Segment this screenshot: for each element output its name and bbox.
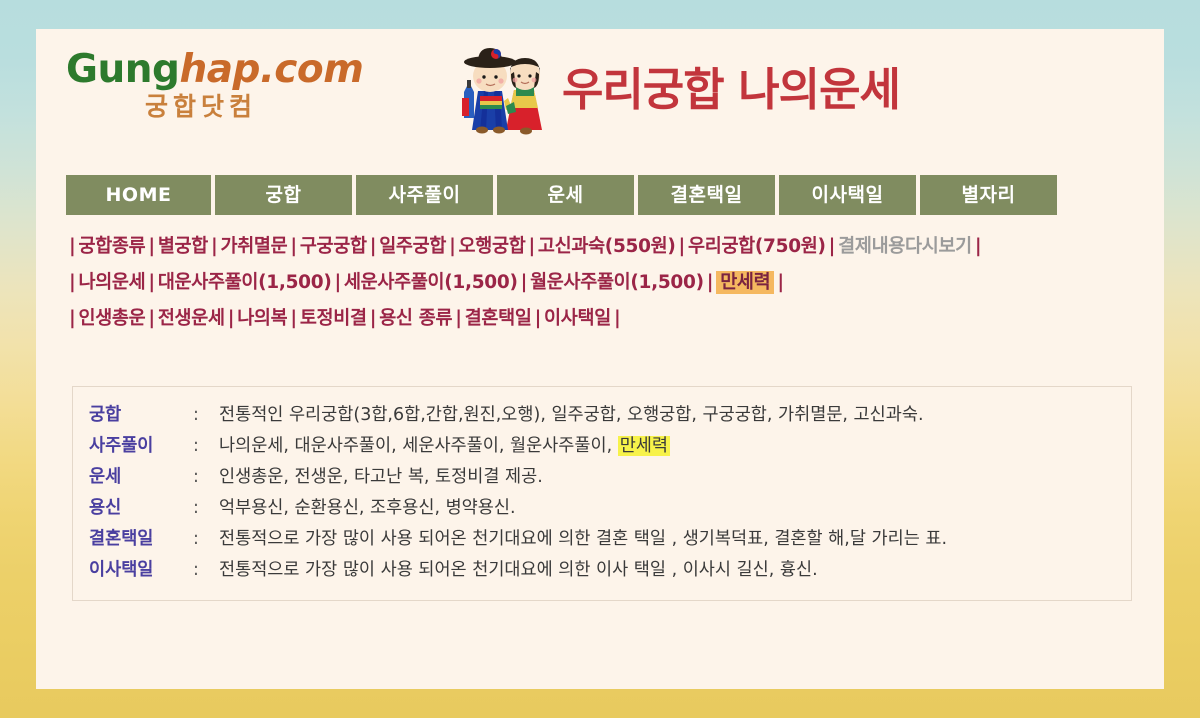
- sub-nav-link[interactable]: 나의운세: [78, 272, 145, 293]
- brand-korean-subtitle: 궁합닷컴: [66, 94, 336, 119]
- nav-item-unse[interactable]: 운세: [497, 175, 634, 215]
- sub-nav-separator: |: [145, 272, 157, 293]
- sub-nav-separator: |: [287, 308, 299, 329]
- desc-highlight[interactable]: 만세력: [618, 436, 670, 456]
- sub-nav-link[interactable]: 가취멸문: [220, 236, 287, 257]
- sub-nav-link[interactable]: 우리궁합(750원): [688, 236, 826, 257]
- sub-navigation: |궁합종류|별궁합|가취멸문|구궁궁합|일주궁합|오행궁합|고신과숙(550원)…: [66, 229, 1136, 337]
- desc-value: 억부용신, 순환용신, 조후용신, 병약용신.: [219, 494, 516, 519]
- sub-nav-separator: |: [66, 308, 78, 329]
- nav-item-zodiac[interactable]: 별자리: [920, 175, 1057, 215]
- sub-nav-link[interactable]: 고신과숙(550원): [538, 236, 676, 257]
- sub-nav-link[interactable]: 인생총운: [78, 308, 145, 329]
- sub-nav-separator: |: [208, 236, 220, 257]
- desc-row: 이사택일 : 전통적으로 가장 많이 사용 되어온 천기대요에 의한 이사 택일…: [89, 556, 1131, 587]
- sub-nav-separator: |: [66, 236, 78, 257]
- service-description-box: 궁합 : 전통적인 우리궁합(3합,6합,간합,원진,오행), 일주궁합, 오행…: [72, 386, 1132, 601]
- desc-colon: :: [193, 436, 219, 456]
- nav-item-gunghap[interactable]: 궁합: [215, 175, 352, 215]
- sub-nav-separator: |: [452, 308, 464, 329]
- sub-nav-separator: |: [704, 272, 716, 293]
- brand-logo[interactable]: Gunghap.com 궁합닷컴: [66, 50, 336, 119]
- sub-nav-link[interactable]: 용신 종류: [379, 308, 452, 329]
- sub-nav-separator: |: [532, 308, 544, 329]
- desc-row: 운세 : 인생총운, 전생운, 타고난 복, 토정비결 제공.: [89, 463, 1131, 494]
- korean-couple-mascot-icon: [456, 46, 552, 138]
- sub-nav-separator: |: [331, 272, 343, 293]
- sub-nav-link[interactable]: 대운사주풀이(1,500): [158, 272, 332, 293]
- sub-nav-link[interactable]: 결혼택일: [465, 308, 532, 329]
- desc-label: 이사택일: [89, 556, 193, 581]
- sub-nav-separator: |: [826, 236, 838, 257]
- sub-nav-separator: |: [611, 308, 623, 329]
- sub-nav-separator: |: [367, 236, 379, 257]
- sub-nav-separator: |: [518, 272, 530, 293]
- sub-nav-link[interactable]: 월운사주풀이(1,500): [530, 272, 704, 293]
- nav-item-saju[interactable]: 사주풀이: [356, 175, 493, 215]
- brand-wordmark-part1: Gung: [66, 47, 179, 92]
- desc-colon: :: [193, 405, 219, 425]
- desc-value: 전통적인 우리궁합(3합,6합,간합,원진,오행), 일주궁합, 오행궁합, 구…: [219, 401, 924, 426]
- section-heading-label: 전통 궁합: [120, 684, 210, 689]
- desc-row: 궁합 : 전통적인 우리궁합(3합,6합,간합,원진,오행), 일주궁합, 오행…: [89, 401, 1131, 432]
- page-title: 우리궁합 나의운세: [562, 67, 900, 118]
- sub-nav-link[interactable]: 궁합종류: [78, 236, 145, 257]
- desc-value: 인생총운, 전생운, 타고난 복, 토정비결 제공.: [219, 463, 543, 488]
- desc-colon: :: [193, 560, 219, 580]
- brand-wordmark: Gunghap.com: [66, 50, 336, 89]
- sub-nav-separator: |: [972, 236, 984, 257]
- desc-label: 사주풀이: [89, 432, 193, 457]
- page-card: Gunghap.com 궁합닷컴: [36, 29, 1164, 689]
- sub-nav-separator: |: [367, 308, 379, 329]
- sub-nav-link[interactable]: 토정비결: [300, 308, 367, 329]
- desc-row: 용신 : 억부용신, 순환용신, 조후용신, 병약용신.: [89, 494, 1131, 525]
- sub-nav-row-2: |나의운세|대운사주풀이(1,500)|세운사주풀이(1,500)|월운사주풀이…: [66, 265, 1136, 301]
- sub-nav-separator: |: [145, 308, 157, 329]
- brand-wordmark-part2: hap.com: [179, 47, 363, 92]
- sub-nav-link[interactable]: 오행궁합: [459, 236, 526, 257]
- title-block: 우리궁합 나의운세: [456, 46, 900, 138]
- sub-nav-link[interactable]: 만세력: [716, 271, 774, 294]
- nav-item-moving-date[interactable]: 이사택일: [779, 175, 916, 215]
- sub-nav-separator: |: [66, 272, 78, 293]
- sub-nav-separator: |: [446, 236, 458, 257]
- sub-nav-separator: |: [676, 236, 688, 257]
- section-heading-traditional-gunghap: 전통 궁합: [98, 684, 210, 689]
- nav-item-home[interactable]: HOME: [66, 175, 211, 215]
- sub-nav-separator: |: [225, 308, 237, 329]
- sub-nav-separator: |: [287, 236, 299, 257]
- sub-nav-link[interactable]: 일주궁합: [379, 236, 446, 257]
- sub-nav-link[interactable]: 별궁합: [158, 236, 208, 257]
- desc-colon: :: [193, 529, 219, 549]
- desc-row: 결혼택일 : 전통적으로 가장 많이 사용 되어온 천기대요에 의한 결혼 택일…: [89, 525, 1131, 556]
- nav-item-wedding-date[interactable]: 결혼택일: [638, 175, 775, 215]
- desc-label: 운세: [89, 463, 193, 488]
- desc-value: 전통적으로 가장 많이 사용 되어온 천기대요에 의한 결혼 택일 , 생기복덕…: [219, 525, 947, 550]
- sub-nav-link[interactable]: 결제내용다시보기: [838, 236, 972, 257]
- desc-value: 나의운세, 대운사주풀이, 세운사주풀이, 월운사주풀이, 만세력: [219, 432, 670, 457]
- sub-nav-row-3: |인생총운|전생운세|나의복|토정비결|용신 종류|결혼택일|이사택일|: [66, 301, 1136, 337]
- sub-nav-separator: |: [525, 236, 537, 257]
- desc-value: 전통적으로 가장 많이 사용 되어온 천기대요에 의한 이사 택일 , 이사시 …: [219, 556, 818, 581]
- sub-nav-separator: |: [145, 236, 157, 257]
- sub-nav-link[interactable]: 전생운세: [158, 308, 225, 329]
- main-navigation: HOME 궁합 사주풀이 운세 결혼택일 이사택일 별자리: [66, 175, 1057, 215]
- sub-nav-separator: |: [774, 272, 786, 293]
- desc-label: 궁합: [89, 401, 193, 426]
- section-heading-unse: 운세: [754, 684, 817, 689]
- sub-nav-link[interactable]: 세운사주풀이(1,500): [344, 272, 518, 293]
- section-heading-label: 운세: [776, 684, 817, 689]
- desc-colon: :: [193, 498, 219, 518]
- sub-nav-link[interactable]: 나의복: [237, 308, 287, 329]
- desc-label: 결혼택일: [89, 525, 193, 550]
- sub-nav-link[interactable]: 이사택일: [544, 308, 611, 329]
- desc-row: 사주풀이 : 나의운세, 대운사주풀이, 세운사주풀이, 월운사주풀이, 만세력: [89, 432, 1131, 463]
- desc-colon: :: [193, 467, 219, 487]
- desc-label: 용신: [89, 494, 193, 519]
- sub-nav-row-1: |궁합종류|별궁합|가취멸문|구궁궁합|일주궁합|오행궁합|고신과숙(550원)…: [66, 229, 1136, 265]
- site-header: Gunghap.com 궁합닷컴: [36, 29, 1164, 169]
- sub-nav-link[interactable]: 구궁궁합: [300, 236, 367, 257]
